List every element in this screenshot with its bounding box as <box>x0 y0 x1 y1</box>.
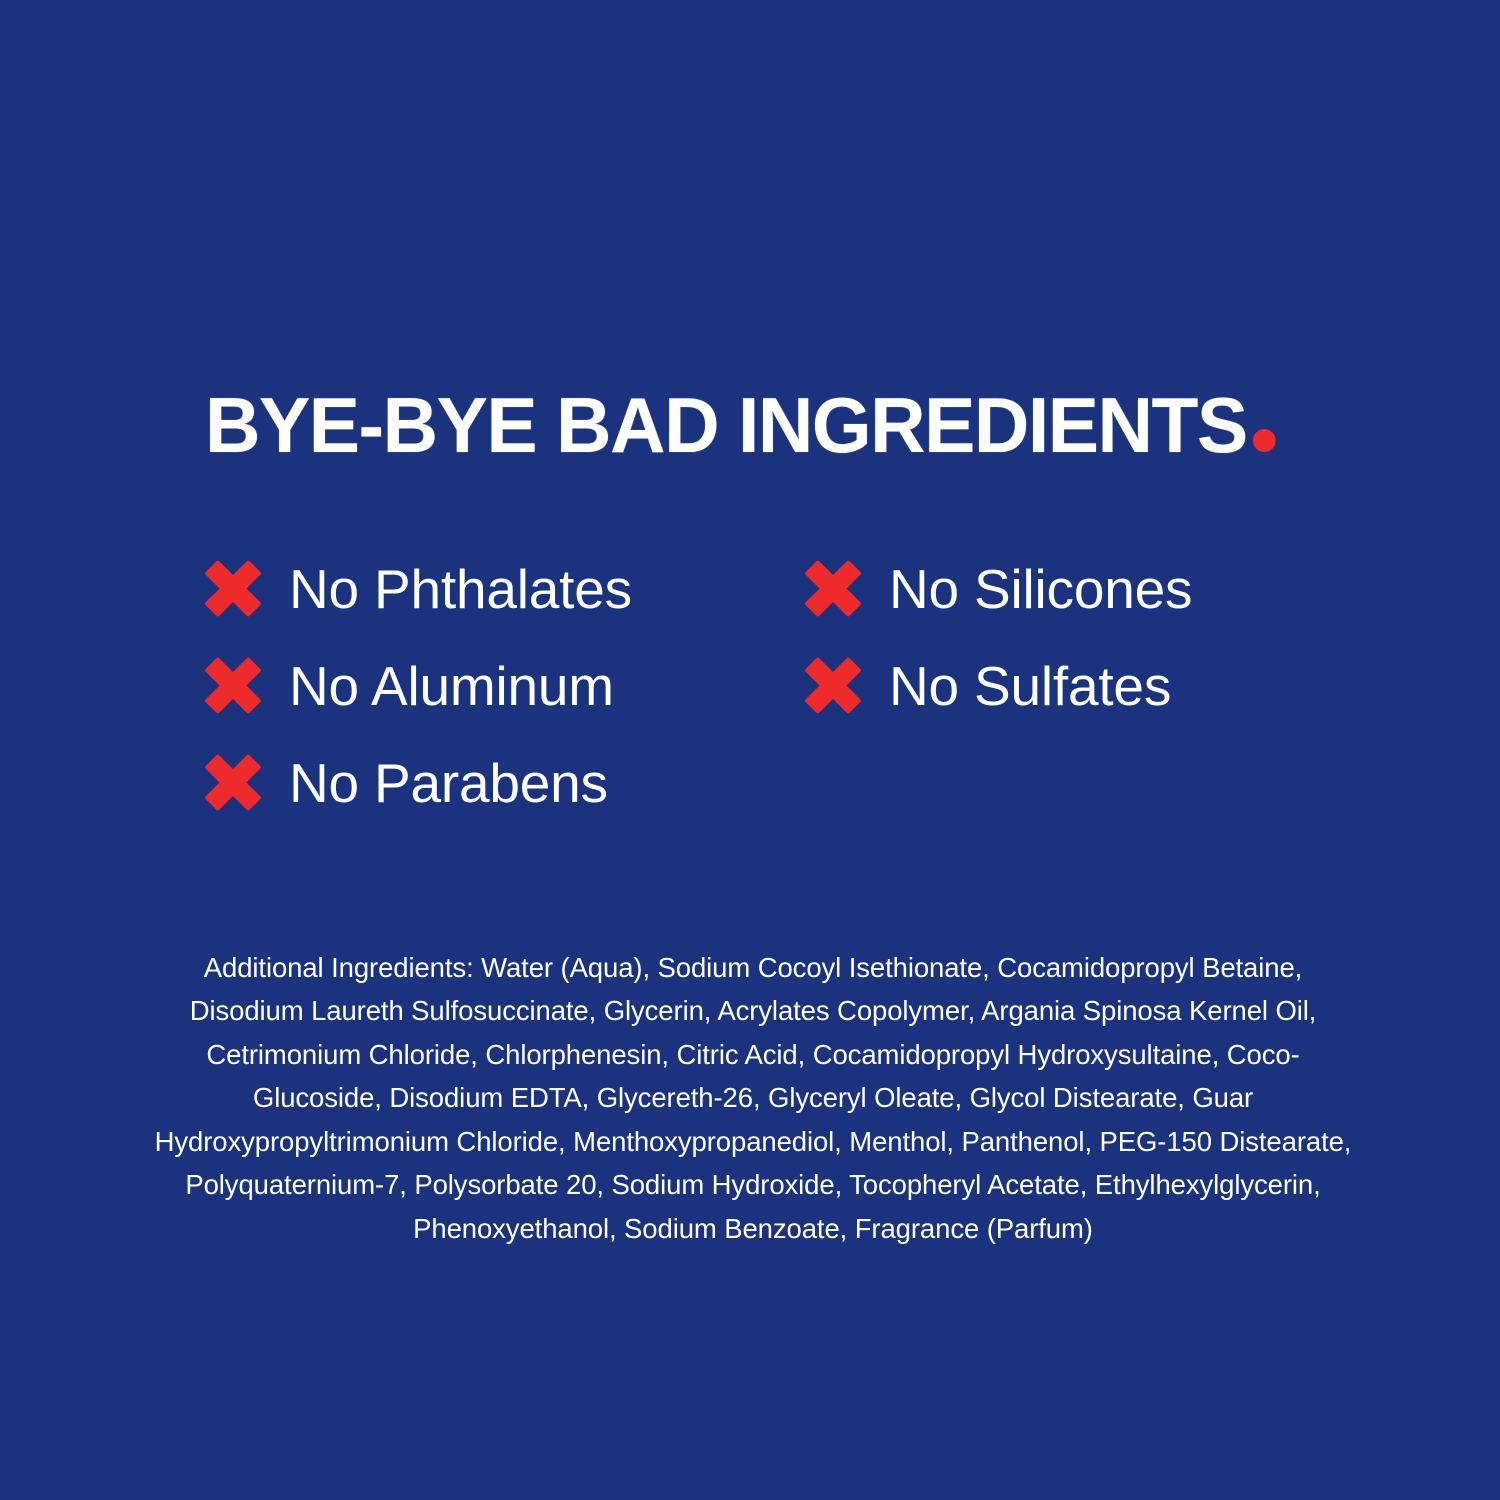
red-x-icon <box>205 755 261 811</box>
claim-label: No Silicones <box>889 559 1192 619</box>
claim-label: No Sulfates <box>889 656 1171 716</box>
headline-period-dot <box>1253 429 1276 452</box>
claim-item-no-aluminum: No Aluminum <box>205 656 805 716</box>
claim-item-no-silicones: No Silicones <box>805 559 1305 619</box>
claim-label: No Aluminum <box>289 656 614 716</box>
red-x-icon <box>805 658 861 714</box>
headline-text: BYE-BYE BAD INGREDIENTS <box>205 381 1247 469</box>
red-x-icon <box>205 658 261 714</box>
red-x-icon <box>805 561 861 617</box>
claim-label: No Parabens <box>289 753 608 813</box>
claim-item-no-parabens: No Parabens <box>205 753 805 813</box>
headline-container: BYE-BYE BAD INGREDIENTS <box>205 368 1345 464</box>
claim-item-no-sulfates: No Sulfates <box>805 656 1305 716</box>
claim-label: No Phthalates <box>289 559 632 619</box>
page-title: BYE-BYE BAD INGREDIENTS <box>205 386 1275 464</box>
ingredient-claims-poster: BYE-BYE BAD INGREDIENTS No Phthalates No… <box>0 0 1500 1500</box>
claims-grid: No Phthalates No Silicones No Aluminum N… <box>205 540 1315 831</box>
additional-ingredients-text: Additional Ingredients: Water (Aqua), So… <box>148 946 1358 1251</box>
claim-item-no-phthalates: No Phthalates <box>205 559 805 619</box>
red-x-icon <box>205 561 261 617</box>
